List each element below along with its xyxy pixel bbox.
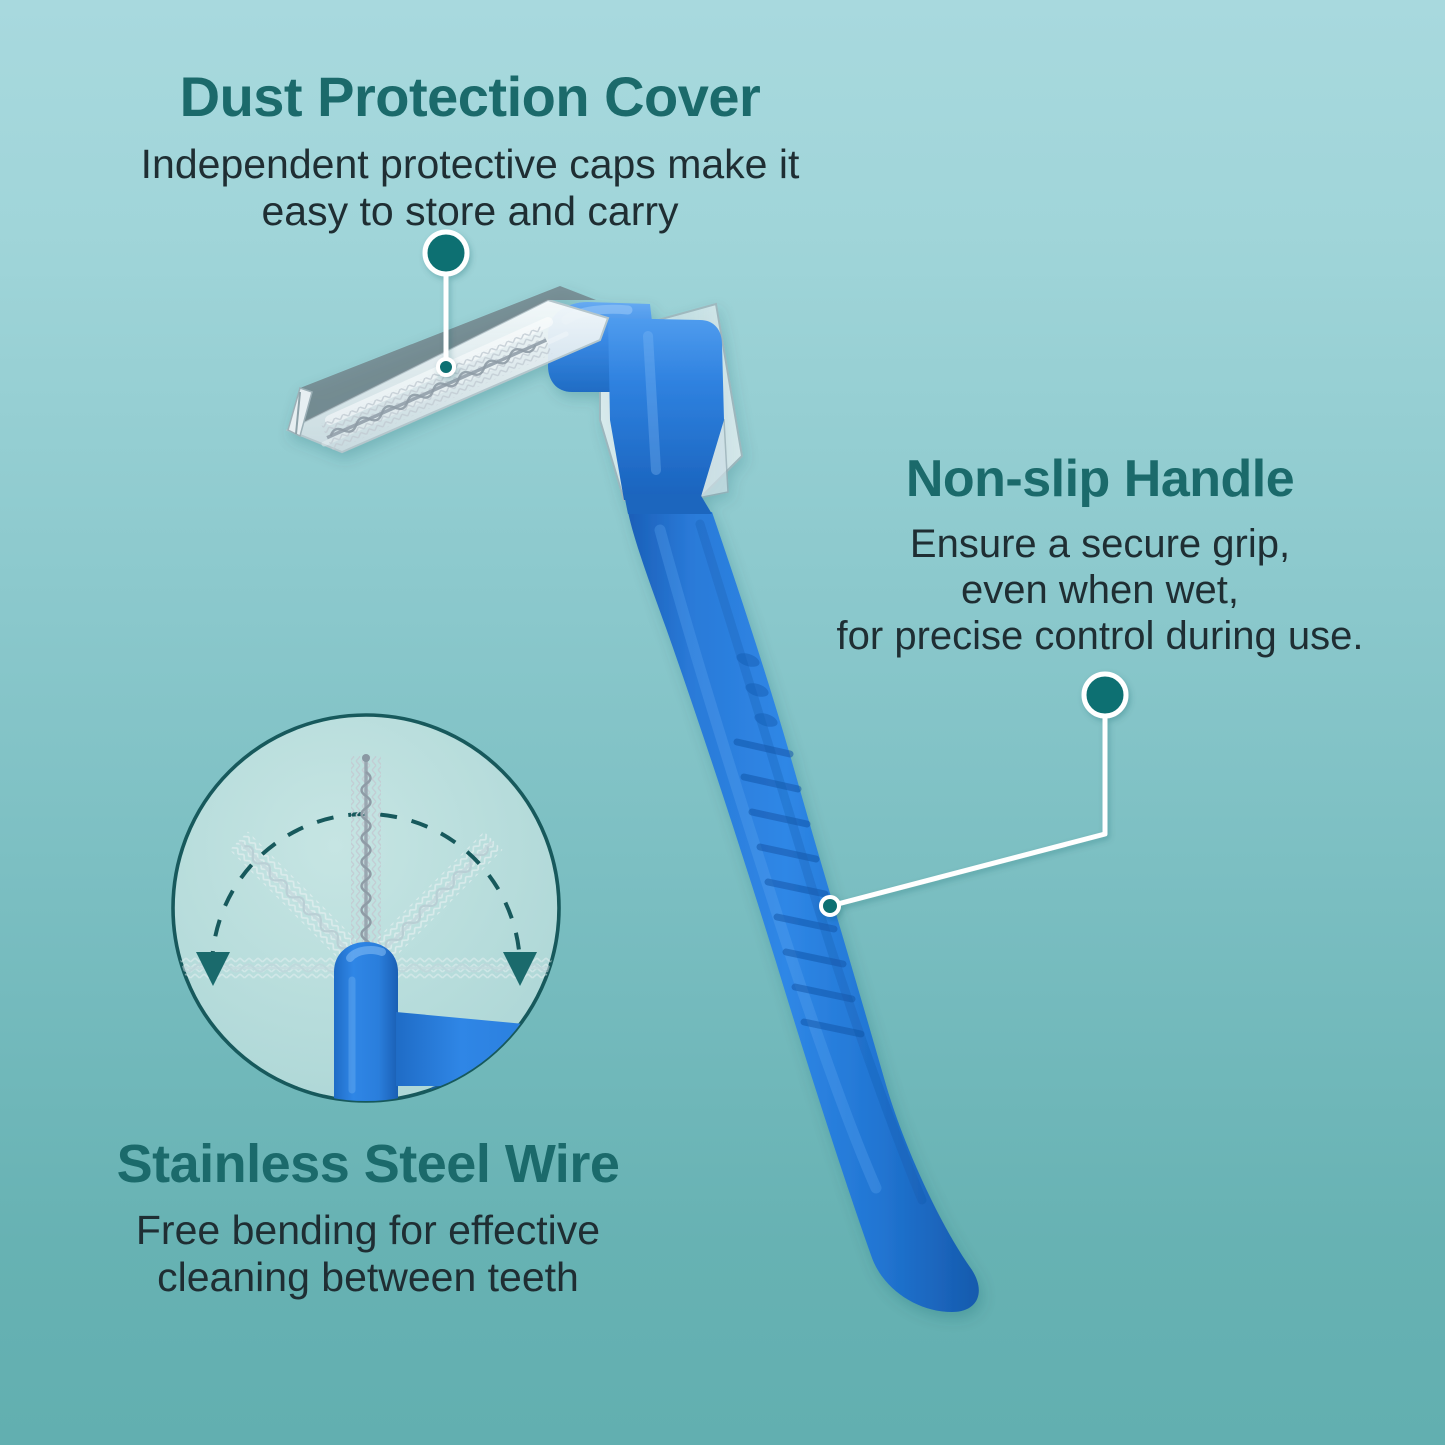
wire-bending-inset bbox=[166, 715, 612, 1104]
infographic-canvas: Dust Protection Cover Independent protec… bbox=[0, 0, 1445, 1445]
handle bbox=[628, 512, 979, 1312]
head-neck bbox=[624, 494, 712, 514]
product-illustration bbox=[0, 0, 1445, 1445]
leader-line-non-slip-handle bbox=[821, 674, 1126, 915]
